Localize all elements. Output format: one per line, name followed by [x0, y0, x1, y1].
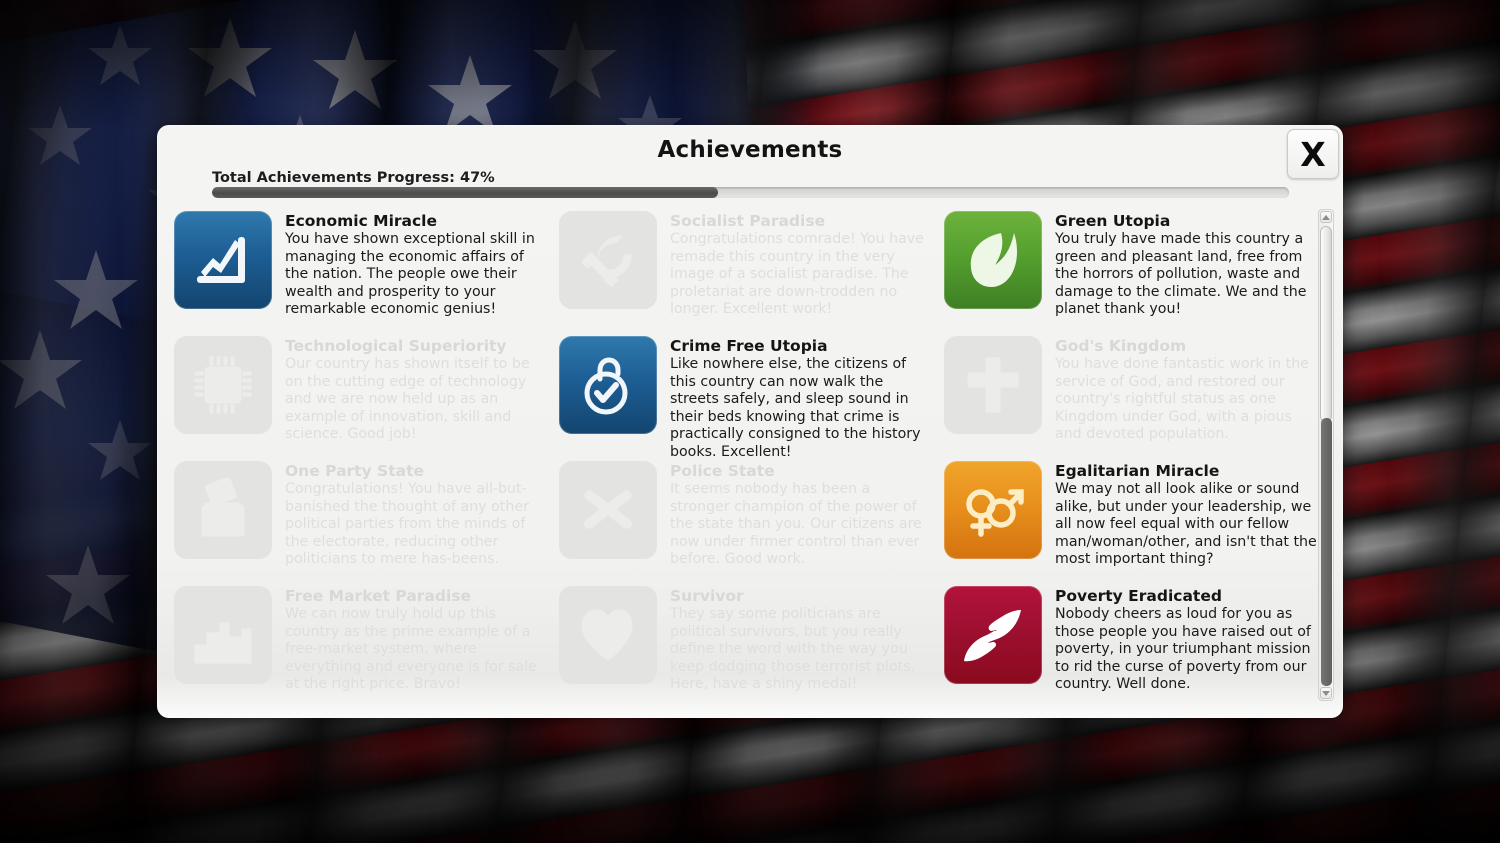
triangle-up-icon — [1322, 215, 1330, 220]
scroll-down-button[interactable] — [1320, 687, 1332, 699]
crossed-batons-icon — [559, 461, 657, 559]
achievement-text: Crime Free UtopiaLike nowhere else, the … — [670, 336, 932, 453]
achievement-item[interactable]: Police StateIt seems nobody has been a s… — [559, 457, 944, 582]
achievement-text: Green UtopiaYou truly have made this cou… — [1055, 211, 1317, 328]
line-chart-icon — [174, 211, 272, 309]
gender-symbols-icon — [944, 461, 1042, 559]
achievement-item[interactable]: Crime Free UtopiaLike nowhere else, the … — [559, 332, 944, 457]
scroll-up-button[interactable] — [1320, 211, 1332, 223]
progress-label: Total Achievements Progress: 47% — [212, 170, 495, 186]
padlock-check-icon — [559, 336, 657, 434]
achievement-text: Socialist ParadiseCongratulations comrad… — [670, 211, 932, 328]
achievement-title: Crime Free Utopia — [670, 337, 932, 355]
achievement-item[interactable]: Free Market ParadiseWe can now truly hol… — [174, 582, 559, 704]
achievement-description: You truly have made this country a green… — [1055, 231, 1317, 319]
close-button[interactable]: X — [1287, 129, 1339, 179]
progress-bar — [212, 187, 1289, 198]
achievement-description: Congratulations comrade! You have remade… — [670, 231, 932, 319]
achievement-title: Technological Superiority — [285, 337, 547, 355]
achievement-description: You have shown exceptional skill in mana… — [285, 231, 547, 319]
achievement-title: One Party State — [285, 462, 547, 480]
achievement-item[interactable]: God's KingdomYou have done fantastic wor… — [944, 332, 1326, 457]
achievement-title: Free Market Paradise — [285, 587, 547, 605]
hammer-and-sickle-icon — [559, 211, 657, 309]
microchip-icon — [174, 336, 272, 434]
achievement-text: Police StateIt seems nobody has been a s… — [670, 461, 932, 578]
city-skyline-icon — [174, 586, 272, 684]
achievement-text: SurvivorThey say some politicians are po… — [670, 586, 932, 703]
scrollbar[interactable] — [1318, 209, 1334, 701]
achievement-item[interactable]: Poverty EradicatedNobody cheers as loud … — [944, 582, 1326, 704]
achievement-title: God's Kingdom — [1055, 337, 1317, 355]
scrollbar-thumb[interactable] — [1320, 226, 1332, 422]
cross-icon — [944, 336, 1042, 434]
achievement-text: Technological SuperiorityOur country has… — [285, 336, 547, 453]
achievement-title: Green Utopia — [1055, 212, 1317, 230]
achievement-description: Congratulations! You have all-but-banish… — [285, 481, 547, 569]
achievement-title: Economic Miracle — [285, 212, 547, 230]
helping-hands-icon — [944, 586, 1042, 684]
achievement-text: Free Market ParadiseWe can now truly hol… — [285, 586, 547, 703]
leaf-icon — [944, 211, 1042, 309]
ballot-box-icon: 1 — [174, 461, 272, 559]
achievement-description: It seems nobody has been a stronger cham… — [670, 481, 932, 569]
achievement-description: Like nowhere else, the citizens of this … — [670, 356, 932, 461]
achievement-text: One Party StateCongratulations! You have… — [285, 461, 547, 578]
achievement-item[interactable]: Technological SuperiorityOur country has… — [174, 332, 559, 457]
achievements-list: Economic MiracleYou have shown exception… — [171, 207, 1326, 704]
triangle-down-icon — [1322, 691, 1330, 696]
achievement-text: Poverty EradicatedNobody cheers as loud … — [1055, 586, 1317, 703]
heart-dagger-icon — [559, 586, 657, 684]
achievement-description: Nobody cheers as loud for you as those p… — [1055, 606, 1317, 694]
achievement-item[interactable]: SurvivorThey say some politicians are po… — [559, 582, 944, 704]
achievement-text: God's KingdomYou have done fantastic wor… — [1055, 336, 1317, 453]
achievement-title: Police State — [670, 462, 932, 480]
achievement-title: Egalitarian Miracle — [1055, 462, 1317, 480]
achievement-description: Our country has shown itself to be on th… — [285, 356, 547, 444]
achievement-description: We can now truly hold up this country as… — [285, 606, 547, 694]
close-icon: X — [1300, 138, 1325, 171]
achievement-item[interactable]: Socialist ParadiseCongratulations comrad… — [559, 207, 944, 332]
progress-bar-fill — [212, 187, 718, 198]
achievement-item[interactable]: Green UtopiaYou truly have made this cou… — [944, 207, 1326, 332]
achievement-description: We may not all look alike or sound alike… — [1055, 481, 1317, 569]
achievement-item[interactable]: Egalitarian MiracleWe may not all look a… — [944, 457, 1326, 582]
achievements-dialog: Achievements X Total Achievements Progre… — [157, 125, 1343, 718]
achievement-description: You have done fantastic work in the serv… — [1055, 356, 1317, 444]
achievement-description: They say some politicians are political … — [670, 606, 932, 694]
achievement-item[interactable]: Economic MiracleYou have shown exception… — [174, 207, 559, 332]
page-title: Achievements — [157, 137, 1343, 163]
achievement-title: Socialist Paradise — [670, 212, 932, 230]
achievement-text: Economic MiracleYou have shown exception… — [285, 211, 547, 328]
scrollbar-track-lower[interactable] — [1321, 418, 1332, 686]
achievement-title: Survivor — [670, 587, 932, 605]
achievement-text: Egalitarian MiracleWe may not all look a… — [1055, 461, 1317, 578]
achievement-title: Poverty Eradicated — [1055, 587, 1317, 605]
achievements-grid: Economic MiracleYou have shown exception… — [171, 207, 1326, 704]
achievement-item[interactable]: 1One Party StateCongratulations! You hav… — [174, 457, 559, 582]
